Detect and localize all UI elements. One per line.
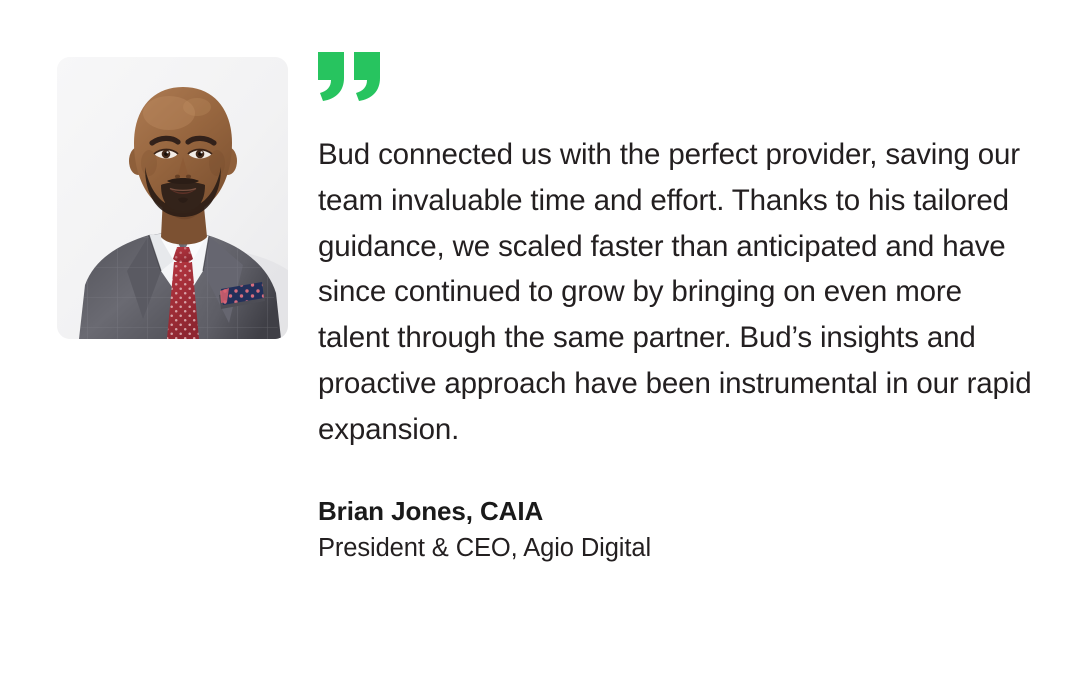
quote-column: Bud connected us with the perfect provid… [318,52,1048,566]
author-name: Brian Jones, CAIA [318,494,1048,528]
author-role: President & CEO, Agio Digital [318,530,1048,566]
author-portrait-image [57,57,288,339]
author-attribution: Brian Jones, CAIA President & CEO, Agio … [318,494,1048,566]
testimonial-card: Bud connected us with the perfect provid… [0,0,1088,680]
author-portrait [57,57,288,339]
closing-quote-icon [318,52,386,102]
quote-text: Bud connected us with the perfect provid… [318,132,1033,453]
